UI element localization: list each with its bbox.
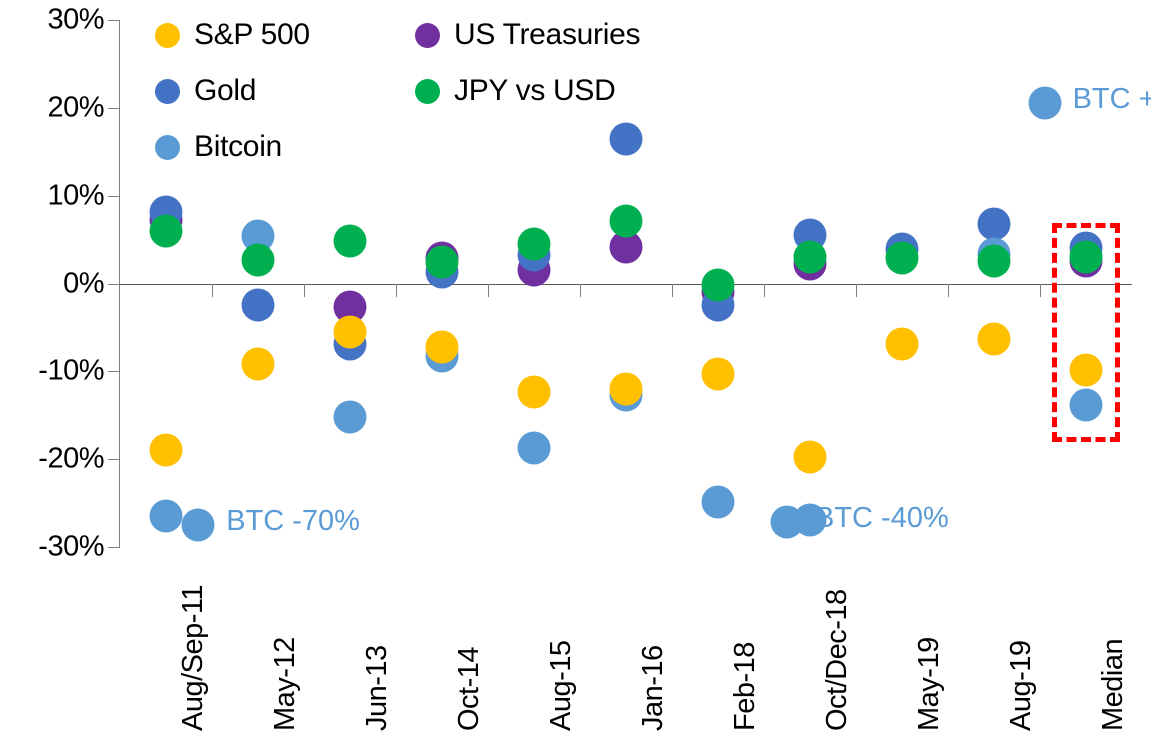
data-point-jpy-vs-usd [978,244,1011,277]
y-axis-tick-mark [108,547,120,548]
x-axis-tick-mark [672,284,673,297]
x-axis-tick-mark [856,284,857,297]
data-point-jpy-vs-usd [242,243,275,276]
x-axis-tick-label: Median [1097,639,1130,731]
median-highlight-box [1052,223,1120,442]
y-axis-tick-label: -30% [38,531,104,564]
x-axis-tick-label: Jan-16 [637,645,670,731]
x-axis-tick-label: May-19 [913,637,946,731]
y-axis-tick-mark [108,196,120,197]
y-axis-tick-label: -20% [38,443,104,476]
x-axis-tick-label: Jun-13 [361,645,394,731]
y-axis-tick-mark [108,459,120,460]
annotation-label: BTC -40% [815,502,949,535]
legend-item-gold[interactable]: Gold [155,74,256,108]
legend-item-s-p-500[interactable]: S&P 500 [155,18,310,52]
data-point-s-p-500 [334,315,367,348]
y-axis-tick-label: -10% [38,355,104,388]
data-point-s-p-500 [150,434,183,467]
y-axis-tick-mark [108,20,120,21]
x-axis-tick-label: Aug-19 [1005,640,1038,731]
y-axis-tick-label: 10% [47,179,104,212]
data-point-s-p-500 [702,357,735,390]
y-axis-tick-label: 20% [47,91,104,124]
annotation-marker-icon [1028,87,1061,120]
data-point-jpy-vs-usd [886,242,919,275]
x-axis-tick-mark [764,284,765,297]
zero-axis-line [120,284,1132,285]
legend-item-label: Gold [194,74,256,108]
legend-item-bitcoin[interactable]: Bitcoin [155,130,282,164]
legend-item-label: JPY vs USD [454,74,616,108]
x-axis-tick-mark [212,284,213,297]
annotation-label: BTC -70% [226,505,360,538]
x-axis-tick-mark [948,284,949,297]
y-axis-tick-label: 0% [63,267,104,300]
data-point-s-p-500 [886,328,919,361]
data-point-bitcoin [702,486,735,519]
annotation-label: BTC +50% [1073,83,1151,116]
data-point-s-p-500 [610,372,643,405]
y-axis-tick-mark [108,108,120,109]
data-point-s-p-500 [242,348,275,381]
legend-item-us-treasuries[interactable]: US Treasuries [415,18,640,52]
y-axis-tick-mark [108,371,120,372]
data-point-s-p-500 [426,330,459,363]
data-point-bitcoin [150,500,183,533]
data-point-jpy-vs-usd [426,246,459,279]
data-point-s-p-500 [518,376,551,409]
legend-swatch-icon [155,135,180,160]
legend-item-label: S&P 500 [194,18,310,52]
x-axis-tick-label: Oct/Dec-18 [821,589,854,731]
data-point-s-p-500 [794,440,827,473]
data-point-s-p-500 [978,322,1011,355]
x-axis-tick-label: Aug/Sep-11 [177,585,210,731]
annotation-marker-icon [771,506,804,539]
y-axis-tick-mark [108,284,120,285]
y-axis-tick-label: 30% [47,4,104,37]
x-axis-tick-label: Feb-18 [729,642,762,731]
legend-swatch-icon [415,23,440,48]
y-axis-labels: 30%20%10%0%-10%-20%-30% [0,0,104,739]
data-point-gold [978,207,1011,240]
legend-swatch-icon [155,79,180,104]
data-point-bitcoin [518,431,551,464]
legend-item-jpy-vs-usd[interactable]: JPY vs USD [415,74,616,108]
data-point-jpy-vs-usd [610,205,643,238]
legend-item-label: Bitcoin [194,130,282,164]
data-point-jpy-vs-usd [334,225,367,258]
legend-item-label: US Treasuries [454,18,640,52]
plot-area [120,20,1132,547]
data-point-jpy-vs-usd [794,241,827,274]
x-axis-tick-label: May-12 [269,637,302,731]
data-point-jpy-vs-usd [702,269,735,302]
x-axis-tick-mark [304,284,305,297]
chart-container: 30%20%10%0%-10%-20%-30% Aug/Sep-11May-12… [0,0,1151,739]
legend-swatch-icon [415,79,440,104]
data-point-gold [242,289,275,322]
data-point-bitcoin [334,401,367,434]
data-point-gold [610,122,643,155]
legend-swatch-icon [155,23,180,48]
annotation-marker-icon [182,509,215,542]
x-axis-tick-mark [396,284,397,297]
x-axis-tick-mark [488,284,489,297]
x-axis-tick-mark [1040,284,1041,297]
data-point-jpy-vs-usd [518,227,551,260]
x-axis-tick-label: Aug-15 [545,640,578,731]
x-axis-tick-mark [580,284,581,297]
x-axis-tick-label: Oct-14 [453,647,486,731]
data-point-jpy-vs-usd [150,214,183,247]
